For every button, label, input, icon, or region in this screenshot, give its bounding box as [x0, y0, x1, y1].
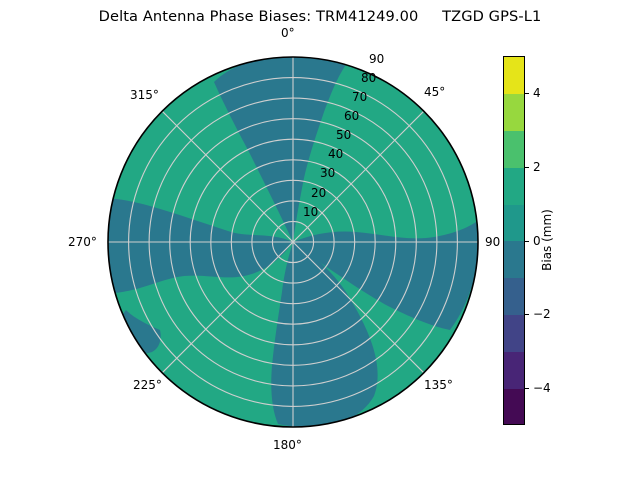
- radial-tick-40: 40: [328, 147, 343, 161]
- colorbar-band-6: [504, 278, 524, 315]
- radial-tick-30: 30: [320, 166, 335, 180]
- colorbar-band-2: [504, 131, 524, 168]
- radial-tick-60: 60: [344, 109, 359, 123]
- colorbar-tick-mark-2: [525, 241, 529, 242]
- colorbar-band-3: [504, 168, 524, 205]
- angular-tick-225: 225°: [133, 378, 162, 392]
- colorbar-label: Bias (mm): [540, 209, 554, 271]
- colorbar-tick-label-1: 2: [533, 160, 541, 174]
- angular-tick-180: 180°: [273, 438, 302, 452]
- radial-tick-90: 90: [369, 52, 384, 66]
- angular-tick-45: 45°: [424, 85, 445, 99]
- colorbar-tick-mark-4: [525, 388, 529, 389]
- angular-grid: [108, 57, 478, 427]
- colorbar-tick-mark-0: [525, 93, 529, 94]
- colorbar-tick-label-0: 4: [533, 86, 541, 100]
- colorbar-tick-label-4: −4: [533, 381, 551, 395]
- angular-tick-315: 315°: [130, 88, 159, 102]
- colorbar-band-5: [504, 241, 524, 278]
- radial-tick-80: 80: [361, 71, 376, 85]
- figure: Delta Antenna Phase Biases: TRM41249.00 …: [0, 0, 640, 480]
- colorbar-gradient: [503, 56, 525, 425]
- angular-tick-135: 135°: [424, 378, 453, 392]
- colorbar-tick-label-3: −2: [533, 307, 551, 321]
- angular-tick-270: 270°: [68, 235, 97, 249]
- radial-tick-20: 20: [311, 186, 326, 200]
- colorbar-band-7: [504, 315, 524, 352]
- radial-tick-50: 50: [336, 128, 351, 142]
- angular-tick-0: 0°: [281, 26, 295, 40]
- colorbar-band-1: [504, 94, 524, 131]
- colorbar-tick-mark-1: [525, 167, 529, 168]
- colorbar-band-4: [504, 205, 524, 242]
- colorbar[interactable]: 420−2−4: [503, 56, 525, 425]
- colorbar-band-0: [504, 57, 524, 94]
- angular-tick-90: 90: [485, 235, 500, 249]
- colorbar-band-8: [504, 352, 524, 389]
- colorbar-tick-mark-3: [525, 314, 529, 315]
- radial-tick-70: 70: [352, 90, 367, 104]
- radial-tick-10: 10: [303, 205, 318, 219]
- colorbar-band-9: [504, 389, 524, 425]
